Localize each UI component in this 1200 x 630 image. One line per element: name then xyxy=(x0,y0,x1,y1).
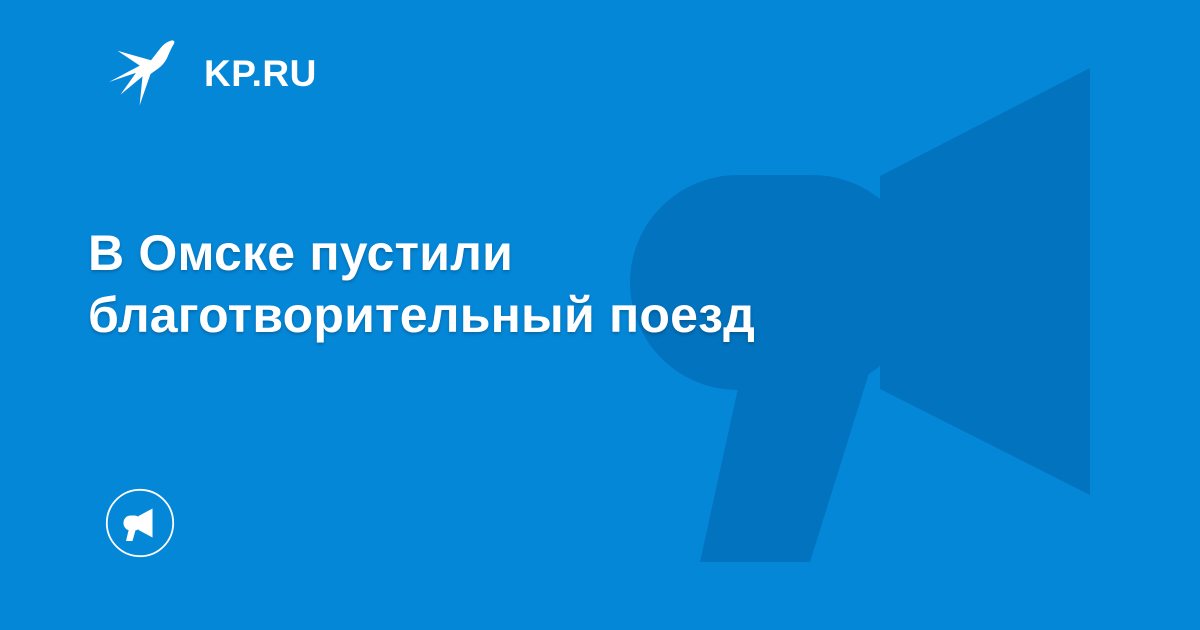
megaphone-icon xyxy=(105,488,175,558)
megaphone-badge[interactable] xyxy=(105,488,175,558)
swallow-bird-icon xyxy=(108,38,186,108)
brand-logo[interactable]: KP.RU xyxy=(108,38,317,108)
share-card: KP.RU В Омске пустили благотворительный … xyxy=(0,0,1200,630)
page-title: В Омске пустили благотворительный поезд xyxy=(88,222,1098,346)
brand-name: KP.RU xyxy=(204,55,317,92)
headline-line-1: В Омске пустили xyxy=(88,222,1098,284)
headline-line-2: благотворительный поезд xyxy=(88,284,1098,346)
